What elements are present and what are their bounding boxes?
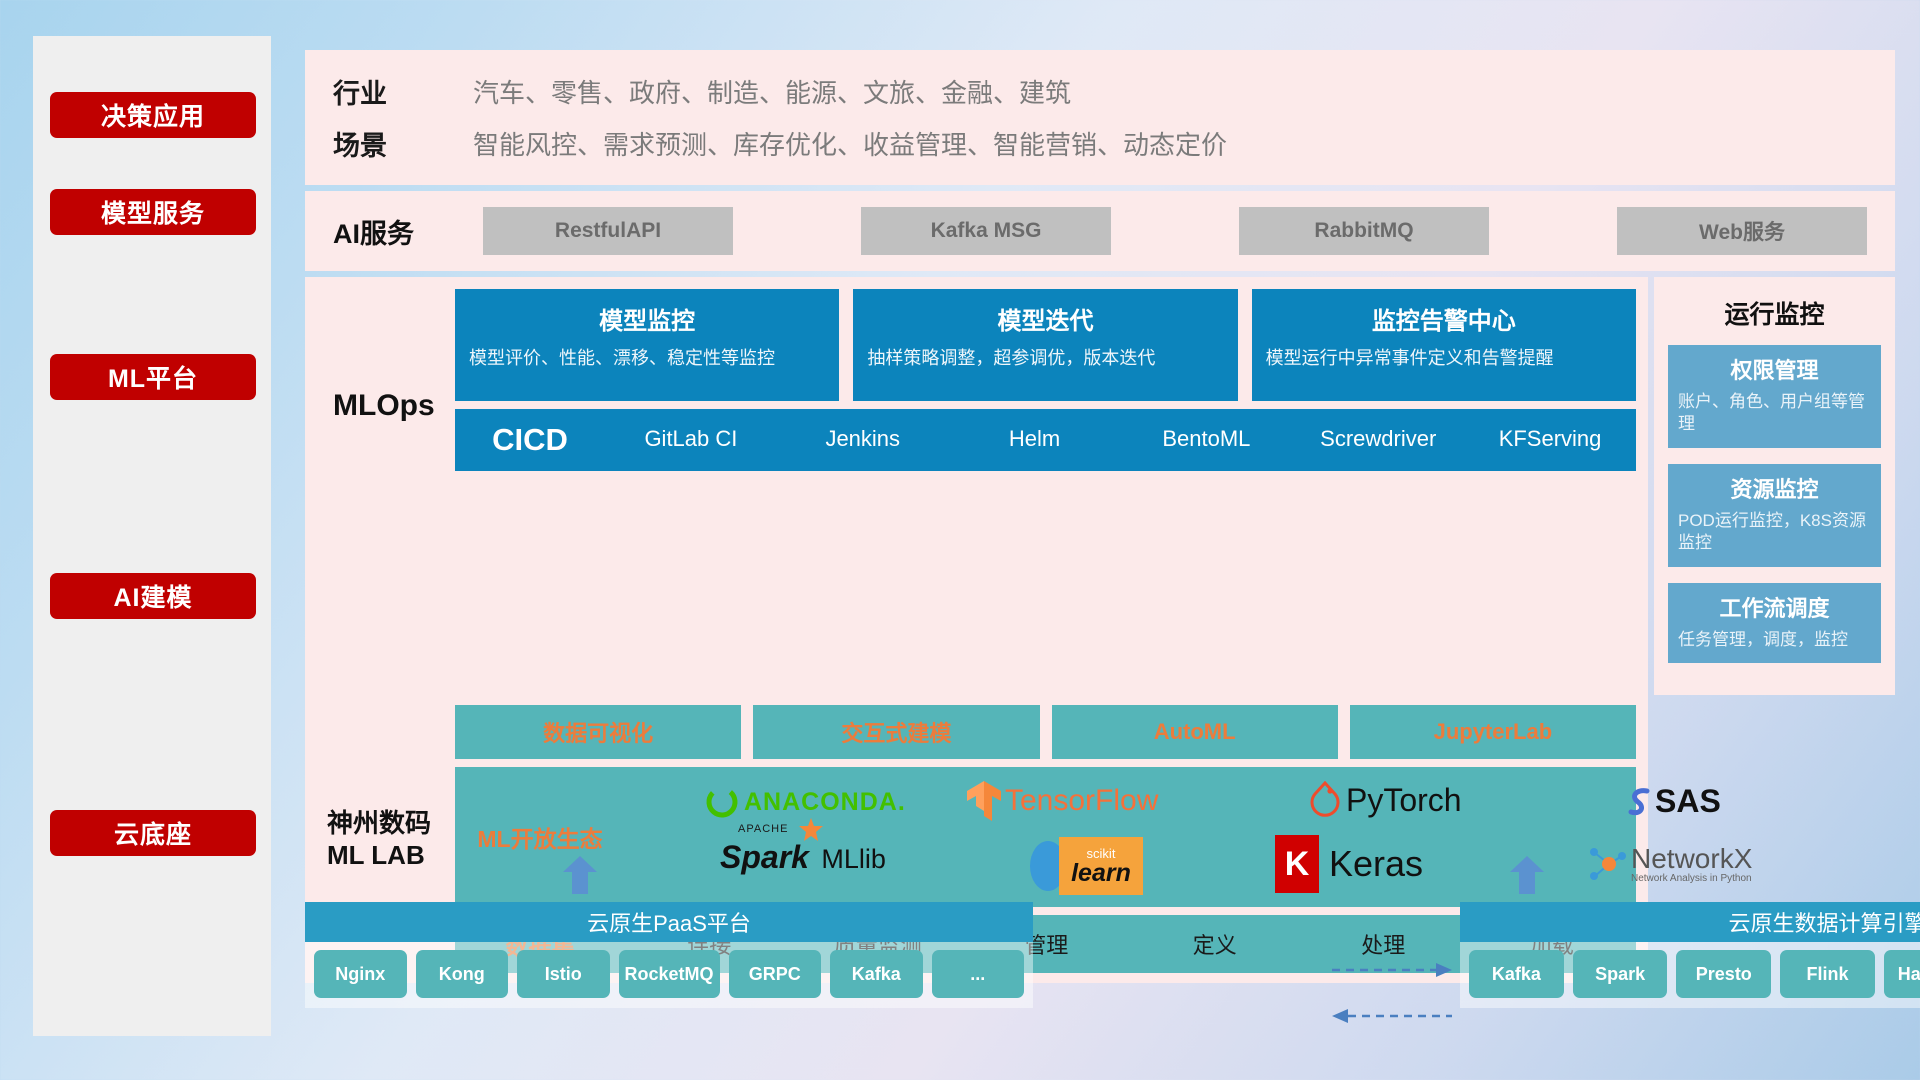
mlops-card-title: 模型监控 [469, 301, 825, 336]
compute-chip-list: KafkaSparkPrestoFlinkHadoopStorm... [1460, 942, 1920, 1008]
cicd-title: CICD [455, 422, 605, 458]
sas-logo: SAS [1625, 783, 1721, 820]
cicd-bar: CICD GitLab CIJenkinsHelmBentoMLScrewdri… [455, 409, 1636, 471]
mlops-label: MLOps [305, 289, 455, 471]
anaconda-wordmark: ANACONDA. [744, 788, 906, 817]
modeling-tool-chip-1[interactable]: 数据可视化 [455, 705, 741, 759]
compute-chip-3[interactable]: Presto [1676, 950, 1771, 998]
paas-chip-4[interactable]: RocketMQ [619, 950, 720, 998]
compute-chip-4[interactable]: Flink [1780, 950, 1875, 998]
ai-service-label: AI服务 [333, 212, 483, 251]
monitor-card-desc: POD运行监控，K8S资源监控 [1678, 510, 1871, 555]
paas-chip-list: NginxKongIstioRocketMQGRPCKafka... [305, 942, 1033, 1008]
ml-lab-label-line1: 神州数码 [327, 807, 455, 840]
monitor-card-3[interactable]: 工作流调度任务管理，调度，监控 [1668, 583, 1881, 663]
cicd-item-6[interactable]: KFServing [1464, 428, 1636, 452]
compute-up-arrow [1510, 856, 1544, 894]
pytorch-logo: PyTorch [1310, 781, 1462, 819]
mlops-band: MLOps 模型监控模型评价、性能、漂移、稳定性等监控模型迭代抽样策略调整，超参… [305, 277, 1648, 695]
mlops-card-desc: 模型运行中异常事件定义和告警提醒 [1266, 346, 1622, 370]
mlops-card-desc: 抽样策略调整，超参调优，版本迭代 [867, 346, 1223, 370]
rail-pill-3[interactable]: ML平台 [50, 354, 256, 400]
ai-service-chip-3[interactable]: RabbitMQ [1239, 207, 1489, 255]
cloud-foundation-zone: 云原生PaaS平台 NginxKongIstioRocketMQGRPCKafk… [305, 880, 1895, 1040]
modeling-tool-chip-2[interactable]: 交互式建模 [753, 705, 1039, 759]
paas-chip-5[interactable]: GRPC [729, 950, 822, 998]
rail-pill-2[interactable]: 模型服务 [50, 189, 256, 235]
monitor-panel-title: 运行监控 [1668, 295, 1881, 331]
cicd-item-4[interactable]: BentoML [1120, 428, 1292, 452]
ml-ecosystem-label: ML开放生态 [455, 820, 625, 854]
monitor-card-title: 资源监控 [1678, 472, 1871, 504]
modeling-tool-list: 数据可视化交互式建模AutoMLJupyterLab [455, 705, 1636, 759]
mlops-card-desc: 模型评价、性能、漂移、稳定性等监控 [469, 346, 825, 370]
monitor-card-desc: 任务管理，调度，监控 [1678, 629, 1871, 651]
modeling-tool-chip-3[interactable]: AutoML [1052, 705, 1338, 759]
paas-chip-1[interactable]: Nginx [314, 950, 407, 998]
monitor-card-desc: 账户、角色、用户组等管理 [1678, 391, 1871, 436]
anaconda-logo: ANACONDA. [705, 785, 906, 819]
pytorch-wordmark: PyTorch [1346, 782, 1462, 819]
compute-group: 云原生数据计算引擎 KafkaSparkPrestoFlinkHadoopSto… [1460, 902, 1920, 1008]
modeling-tool-chip-4[interactable]: JupyterLab [1350, 705, 1636, 759]
rail-pill-4[interactable]: AI建模 [50, 573, 256, 619]
runtime-monitoring-panel: 运行监控 权限管理账户、角色、用户组等管理资源监控POD运行监控，K8S资源监控… [1654, 277, 1895, 695]
mlops-card-1[interactable]: 模型监控模型评价、性能、漂移、稳定性等监控 [455, 289, 839, 401]
tensorflow-logo: TensorFlow [965, 779, 1158, 823]
networkx-wordmark: NetworkX [1631, 845, 1752, 873]
paas-group: 云原生PaaS平台 NginxKongIstioRocketMQGRPCKafk… [305, 902, 1033, 1008]
cicd-item-1[interactable]: GitLab CI [605, 428, 777, 452]
ai-service-chip-2[interactable]: Kafka MSG [861, 207, 1111, 255]
monitor-card-1[interactable]: 权限管理账户、角色、用户组等管理 [1668, 345, 1881, 448]
spark-apache-text: APACHE [738, 823, 788, 835]
cicd-item-3[interactable]: Helm [949, 428, 1121, 452]
keras-wordmark: Keras [1329, 843, 1423, 885]
paas-title: 云原生PaaS平台 [305, 902, 1033, 942]
paas-up-arrow [563, 856, 597, 894]
paas-chip-3[interactable]: Istio [517, 950, 610, 998]
industry-label: 行业 [333, 66, 473, 118]
cicd-item-list: GitLab CIJenkinsHelmBentoMLScrewdriverKF… [605, 428, 1636, 452]
spark-wordmark: Spark [720, 839, 809, 875]
industry-value: 汽车、零售、政府、制造、能源、文旅、金融、建筑 [473, 66, 1227, 118]
mlops-card-3[interactable]: 监控告警中心模型运行中异常事件定义和告警提醒 [1252, 289, 1636, 401]
ai-service-chip-1[interactable]: RestfulAPI [483, 207, 733, 255]
mlops-card-title: 模型迭代 [867, 301, 1223, 336]
paas-chip-2[interactable]: Kong [416, 950, 509, 998]
mllib-wordmark: MLlib [821, 844, 886, 874]
keras-k-mark: K [1285, 845, 1310, 884]
paas-chip-7[interactable]: ... [932, 950, 1025, 998]
cicd-item-5[interactable]: Screwdriver [1292, 428, 1464, 452]
compute-chip-1[interactable]: Kafka [1469, 950, 1564, 998]
compute-title: 云原生数据计算引擎 [1460, 902, 1920, 942]
tensorflow-wordmark: TensorFlow [1005, 784, 1158, 818]
compute-chip-2[interactable]: Spark [1573, 950, 1668, 998]
cicd-item-2[interactable]: Jenkins [777, 428, 949, 452]
bidirectional-link [1332, 958, 1452, 1033]
ai-service-band: AI服务 RestfulAPIKafka MSGRabbitMQWeb服务 [305, 191, 1895, 271]
rail-pill-5[interactable]: 云底座 [50, 810, 256, 856]
ai-service-chip-4[interactable]: Web服务 [1617, 207, 1867, 255]
ml-platform-row: MLOps 模型监控模型评价、性能、漂移、稳定性等监控模型迭代抽样策略调整，超参… [305, 277, 1895, 695]
architecture-main: 行业 场景 汽车、零售、政府、制造、能源、文旅、金融、建筑 智能风控、需求预测、… [305, 50, 1895, 983]
decision-applications-band: 行业 场景 汽车、零售、政府、制造、能源、文旅、金融、建筑 智能风控、需求预测、… [305, 50, 1895, 185]
mlops-card-2[interactable]: 模型迭代抽样策略调整，超参调优，版本迭代 [853, 289, 1237, 401]
compute-chip-5[interactable]: Hadoop [1884, 950, 1920, 998]
paas-chip-6[interactable]: Kafka [830, 950, 923, 998]
apps-label-column: 行业 场景 [333, 66, 473, 170]
monitor-card-title: 工作流调度 [1678, 591, 1871, 623]
scenario-label: 场景 [333, 118, 473, 170]
networkx-logo: NetworkX Network Analysis in Python [1585, 843, 1752, 885]
monitor-card-list: 权限管理账户、角色、用户组等管理资源监控POD运行监控，K8S资源监控工作流调度… [1668, 345, 1881, 663]
monitor-card-2[interactable]: 资源监控POD运行监控，K8S资源监控 [1668, 464, 1881, 567]
monitor-card-title: 权限管理 [1678, 353, 1871, 385]
scenario-value: 智能风控、需求预测、库存优化、收益管理、智能营销、动态定价 [473, 118, 1227, 170]
spark-mllib-logo: APACHE Spark MLlib [720, 839, 886, 876]
ml-lab-label-line2: ML LAB [327, 839, 455, 872]
apps-value-column: 汽车、零售、政府、制造、能源、文旅、金融、建筑 智能风控、需求预测、库存优化、收… [473, 66, 1227, 170]
sas-wordmark: SAS [1655, 783, 1721, 820]
rail-pill-1[interactable]: 决策应用 [50, 92, 256, 138]
mlops-card-list: 模型监控模型评价、性能、漂移、稳定性等监控模型迭代抽样策略调整，超参调优，版本迭… [455, 289, 1636, 401]
mlops-card-title: 监控告警中心 [1266, 301, 1622, 336]
ai-service-chip-list: RestfulAPIKafka MSGRabbitMQWeb服务 [483, 207, 1867, 255]
stack-layer-rail: 决策应用模型服务ML平台AI建模云底座 [33, 36, 271, 1036]
